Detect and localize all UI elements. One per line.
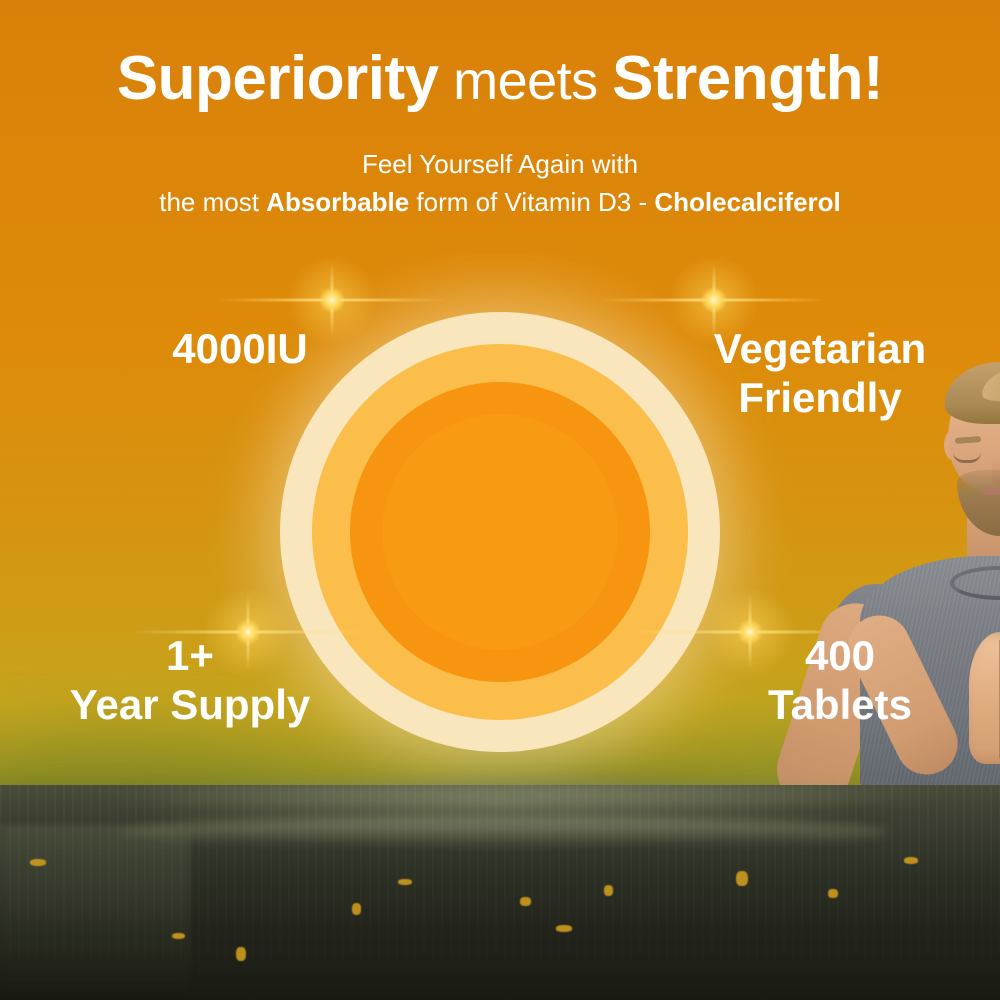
headline-part-2: meets bbox=[439, 51, 613, 111]
halo-ring-core bbox=[382, 414, 618, 650]
lichen-speck bbox=[172, 933, 185, 939]
lichen-speck bbox=[30, 859, 46, 866]
lichen-speck bbox=[352, 903, 361, 915]
subtitle-line-2: the most Absorbable form of Vitamin D3 -… bbox=[0, 184, 1000, 222]
headline-part-3: Strength! bbox=[612, 44, 883, 113]
subtitle-line-2-pre: the most bbox=[159, 187, 266, 217]
feature-supply: 1+ Year Supply bbox=[40, 632, 340, 729]
subtitle-line-2-mid: form of Vitamin D3 - bbox=[409, 187, 654, 217]
feature-dosage: 4000IU bbox=[95, 325, 385, 374]
lichen-speck bbox=[556, 925, 572, 932]
promotional-banner: Superiority meets Strength! Feel Yoursel… bbox=[0, 0, 1000, 1000]
mouth bbox=[983, 489, 1000, 495]
subtitle-cholecalciferol: Cholecalciferol bbox=[654, 187, 840, 217]
lichen-speck bbox=[904, 857, 918, 864]
headline-part-1: Superiority bbox=[117, 44, 439, 113]
subtitle-absorbable: Absorbable bbox=[266, 187, 409, 217]
feature-vegetarian: Vegetarian Friendly bbox=[670, 325, 970, 422]
lichen-speck bbox=[520, 897, 531, 906]
lichen-speck bbox=[398, 879, 412, 885]
headline: Superiority meets Strength! bbox=[0, 46, 1000, 111]
lichen-speck bbox=[604, 885, 613, 896]
sun-halo bbox=[280, 312, 720, 752]
subtitle-line-1: Feel Yourself Again with bbox=[0, 146, 1000, 184]
subtitle: Feel Yourself Again with the most Absorb… bbox=[0, 146, 1000, 221]
lichen-speck bbox=[236, 947, 246, 961]
rock-ledge bbox=[0, 785, 1000, 1000]
lichen-speck bbox=[736, 871, 748, 886]
lichen-speck bbox=[828, 889, 838, 898]
rock-striations bbox=[0, 785, 1000, 1000]
feature-tablets: 400 Tablets bbox=[700, 632, 980, 729]
